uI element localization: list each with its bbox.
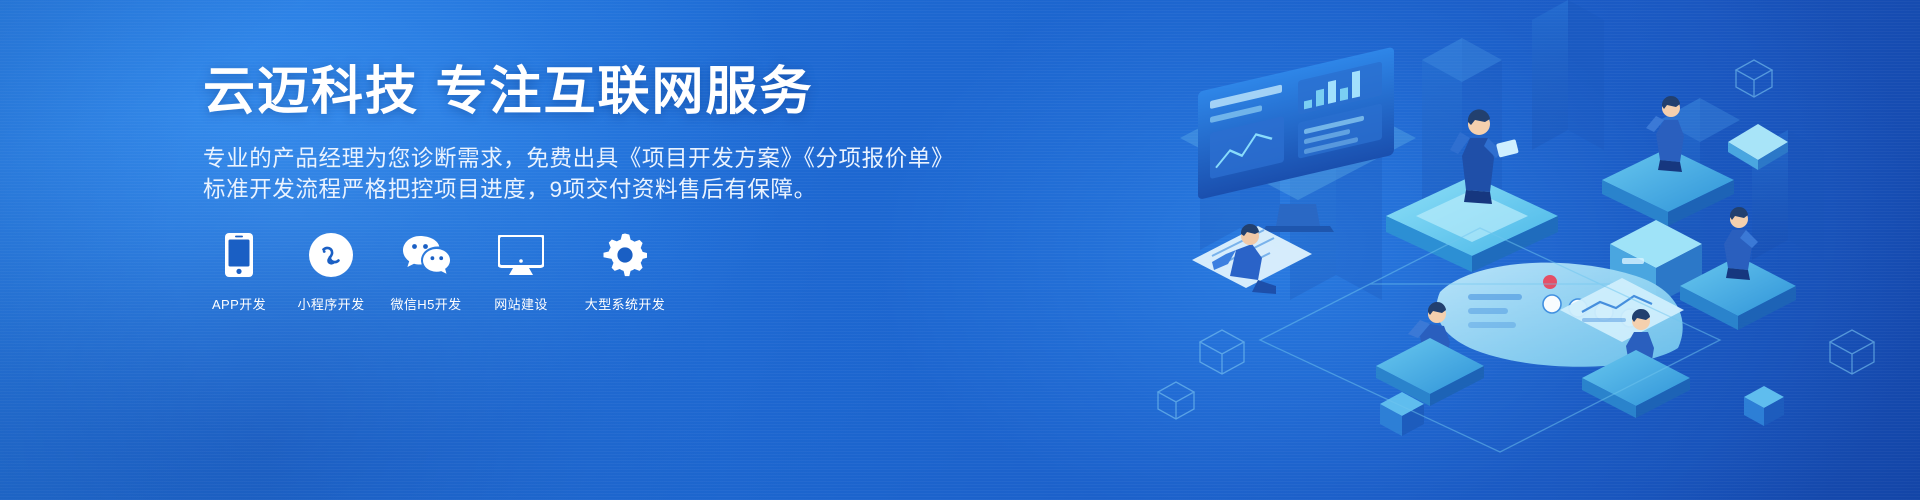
subtitle-block: 专业的产品经理为您诊断需求，免费出具《项目开发方案》《分项报价单》 标准开发流程…: [203, 143, 1123, 205]
service-label: 小程序开发: [295, 294, 367, 313]
gear-icon: [577, 232, 673, 278]
service-label: 网站建设: [485, 294, 557, 313]
hero-banner: 云迈科技 专注互联网服务 专业的产品经理为您诊断需求，免费出具《项目开发方案》《…: [0, 0, 1920, 500]
mobile-phone-icon: [203, 232, 275, 278]
service-item-large-system[interactable]: 大型系统开发: [577, 232, 673, 313]
subtitle-line-2: 标准开发流程严格把控项目进度，9项交付资料售后有保障。: [203, 174, 1123, 205]
service-item-website[interactable]: 网站建设: [485, 232, 557, 313]
hero-text-block: 云迈科技 专注互联网服务 专业的产品经理为您诊断需求，免费出具《项目开发方案》《…: [203, 62, 1123, 205]
platform-bottom-left: [1376, 338, 1484, 406]
service-item-mini-program[interactable]: 小程序开发: [295, 232, 367, 313]
service-item-wechat-h5[interactable]: 微信H5开发: [387, 232, 465, 313]
mini-program-icon: [295, 232, 367, 278]
isometric-tech-team-illustration: [1140, 0, 1920, 500]
service-label: 大型系统开发: [577, 294, 673, 313]
service-item-app[interactable]: APP开发: [203, 232, 275, 313]
service-label: APP开发: [203, 294, 275, 313]
page-title: 云迈科技 专注互联网服务: [203, 62, 1123, 123]
wechat-icon: [387, 232, 465, 278]
service-label: 微信H5开发: [387, 294, 465, 313]
subtitle-line-1: 专业的产品经理为您诊断需求，免费出具《项目开发方案》《分项报价单》: [203, 143, 1123, 174]
monitor-icon: [485, 232, 557, 278]
service-list: APP开发 小程序开发: [203, 232, 673, 313]
